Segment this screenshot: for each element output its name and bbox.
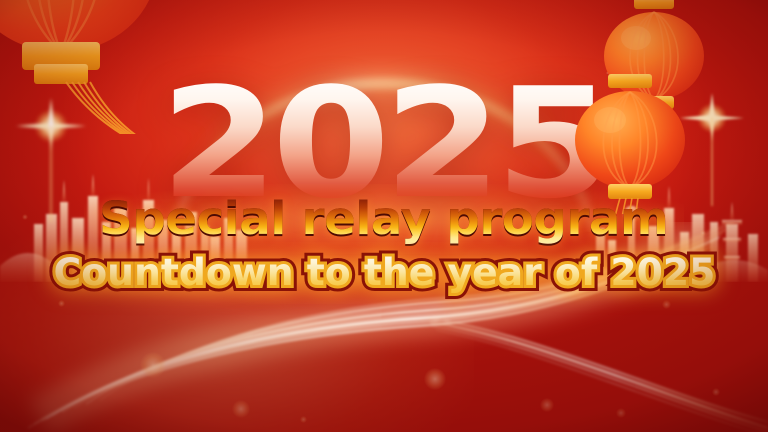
bokeh-dot <box>662 300 671 309</box>
lantern-top-left-icon <box>0 0 156 134</box>
title-block: Special relay program Special relay prog… <box>0 196 768 243</box>
main-title-text: Special relay program <box>99 192 668 245</box>
sparkle-small-right-icon <box>606 58 636 88</box>
bokeh-dot <box>58 300 65 307</box>
main-title: Special relay program Special relay prog… <box>99 196 668 243</box>
subtitle-block: Countdown to the year of 2025 Countdown … <box>0 252 768 293</box>
bokeh-dot <box>300 416 307 423</box>
subtitle-text: Countdown to the year of 2025 <box>53 251 715 294</box>
new-year-poster: 2025 <box>0 0 768 432</box>
bokeh-dot <box>540 398 554 412</box>
subtitle: Countdown to the year of 2025 Countdown … <box>53 252 715 293</box>
bokeh-dot <box>616 408 626 418</box>
lantern-top-right-upper-icon <box>598 0 710 124</box>
bokeh-dot <box>712 388 720 396</box>
bokeh-dot <box>232 400 250 418</box>
sparkle-right-icon <box>674 92 750 212</box>
bokeh-dot <box>424 368 446 390</box>
bokeh-dot <box>140 352 166 378</box>
